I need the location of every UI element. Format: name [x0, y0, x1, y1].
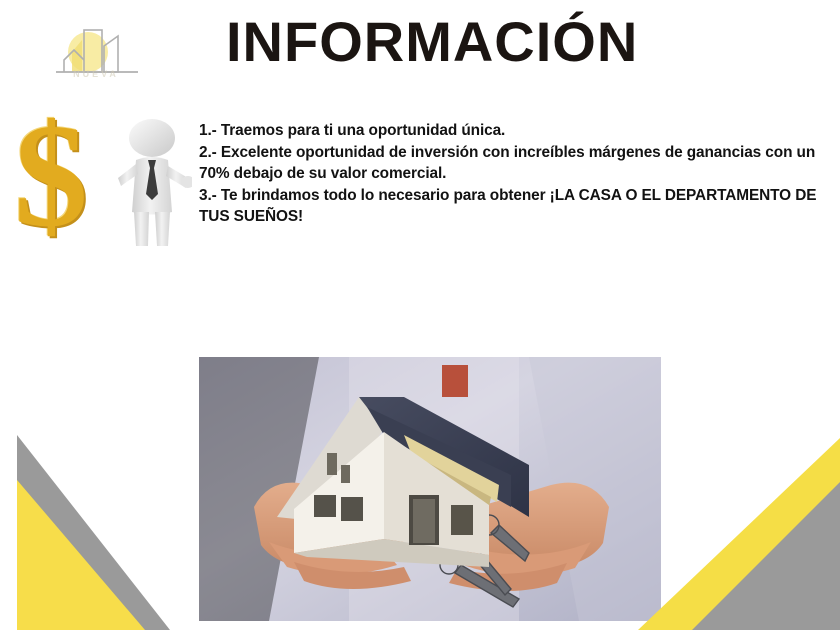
logo-wordmark: NUEVA	[48, 69, 144, 79]
slide-canvas: NUEVA INFORMACIÓN $	[0, 0, 840, 630]
building-logo-icon	[48, 22, 144, 74]
information-bullet-list: 1.- Traemos para ti una oportunidad únic…	[199, 120, 824, 228]
bullet-item-2: 2.- Excelente oportunidad de inversión c…	[199, 142, 824, 185]
dollar-sign-with-3d-figure: $	[12, 104, 192, 254]
page-title: INFORMACIÓN	[226, 14, 638, 70]
building-logo: NUEVA	[48, 22, 144, 88]
corner-triangle-bottom-right	[630, 420, 840, 630]
dollar-sign-icon: $	[14, 106, 88, 246]
house-photo-illustration	[199, 357, 661, 621]
bullet-item-1: 1.- Traemos para ti una oportunidad únic…	[199, 120, 824, 142]
hands-holding-model-house-with-keys	[199, 357, 661, 621]
bullet-item-3: 3.- Te brindamos todo lo necesario para …	[199, 185, 824, 228]
corner-triangle-bottom-left	[0, 420, 170, 630]
businessman-figure-icon	[116, 116, 192, 248]
